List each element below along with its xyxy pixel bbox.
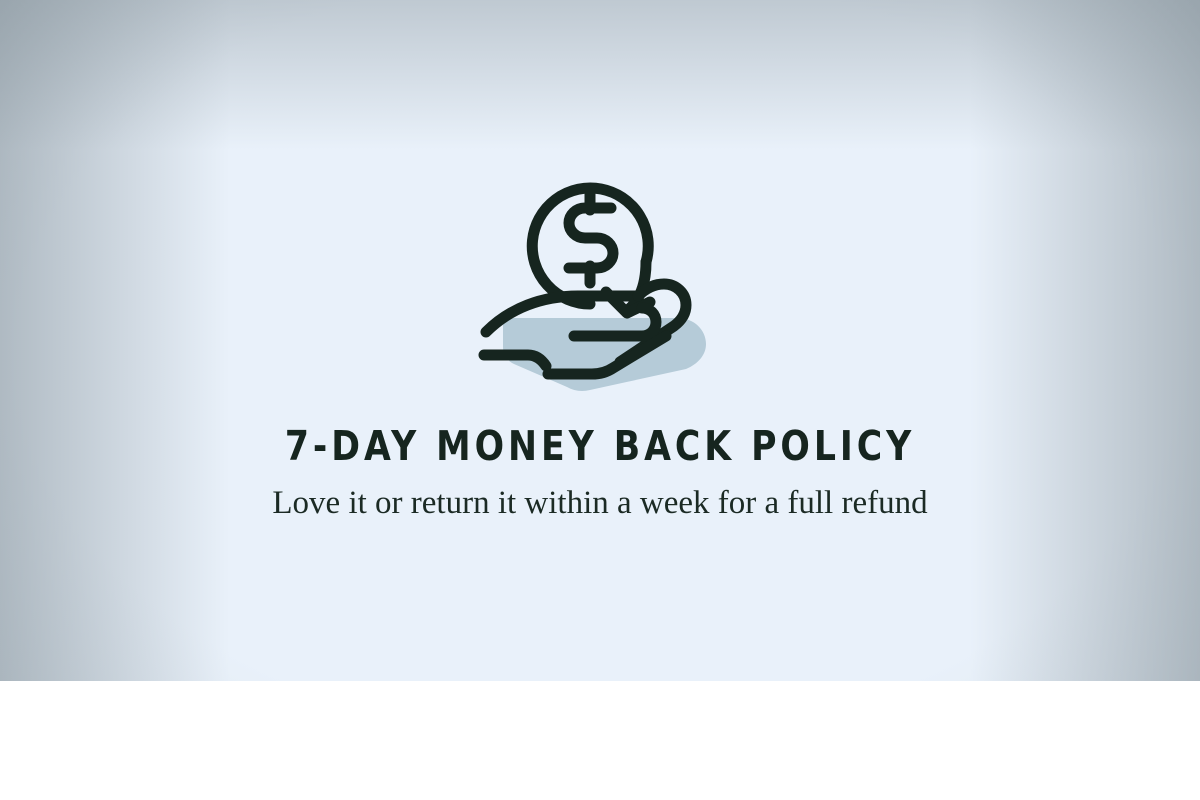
promo-card: 7-DAY MONEY BACK POLICY Love it or retur…	[0, 0, 1200, 800]
page-subtitle: Love it or return it within a week for a…	[260, 482, 940, 525]
money-back-in-hand-icon	[470, 150, 730, 400]
icon-container	[0, 150, 1200, 400]
hero-panel: 7-DAY MONEY BACK POLICY Love it or retur…	[0, 0, 1200, 681]
text-block: 7-DAY MONEY BACK POLICY Love it or retur…	[0, 424, 1200, 525]
footer-bar: Rydell (701) 772-7211 rydellchev.com	[0, 681, 1200, 800]
dollar-sign-icon	[569, 194, 613, 283]
page-title: 7-DAY MONEY BACK POLICY	[36, 424, 1164, 468]
